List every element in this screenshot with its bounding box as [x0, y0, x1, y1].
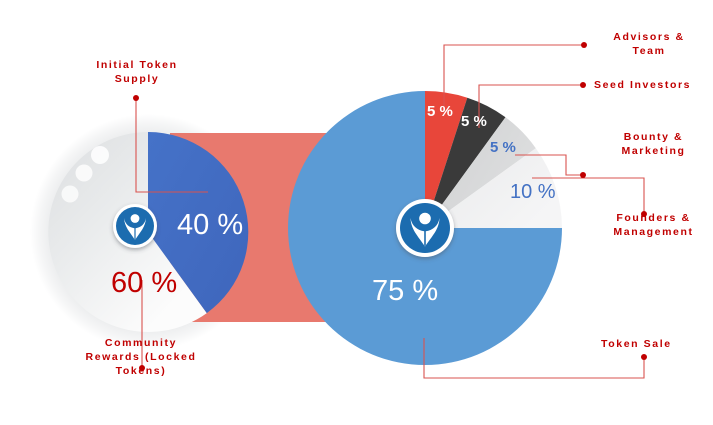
- leader-dot-advisors-team: [581, 42, 587, 48]
- decorative-dot-2: [76, 165, 93, 182]
- label-token-sale: Token Sale: [601, 337, 711, 351]
- leader-dot-seed-investors: [580, 82, 586, 88]
- leader-dot-initial-token-supply: [133, 95, 139, 101]
- label-bounty-marketing: Bounty & Marketing: [597, 130, 710, 158]
- left-brand-logo: [113, 204, 157, 248]
- decorative-dot-3: [91, 146, 109, 164]
- decorative-dot-1: [62, 186, 79, 203]
- logo-head: [419, 213, 431, 225]
- leader-dot-bounty-marketing: [580, 172, 586, 178]
- label-community-rewards: Community Rewards (Locked Tokens): [35, 336, 247, 378]
- label-seed-investors: Seed Investors: [594, 78, 712, 92]
- label-advisors-team: Advisors & Team: [594, 30, 704, 58]
- leader-dot-token-sale: [641, 354, 647, 360]
- label-founders-management: Founders & Management: [596, 211, 711, 239]
- label-initial-token-supply: Initial Token Supply: [48, 58, 226, 86]
- logo-head: [131, 214, 140, 223]
- right-brand-logo: [396, 199, 454, 257]
- infographic-canvas: Initial Token Supply Community Rewards (…: [0, 0, 713, 425]
